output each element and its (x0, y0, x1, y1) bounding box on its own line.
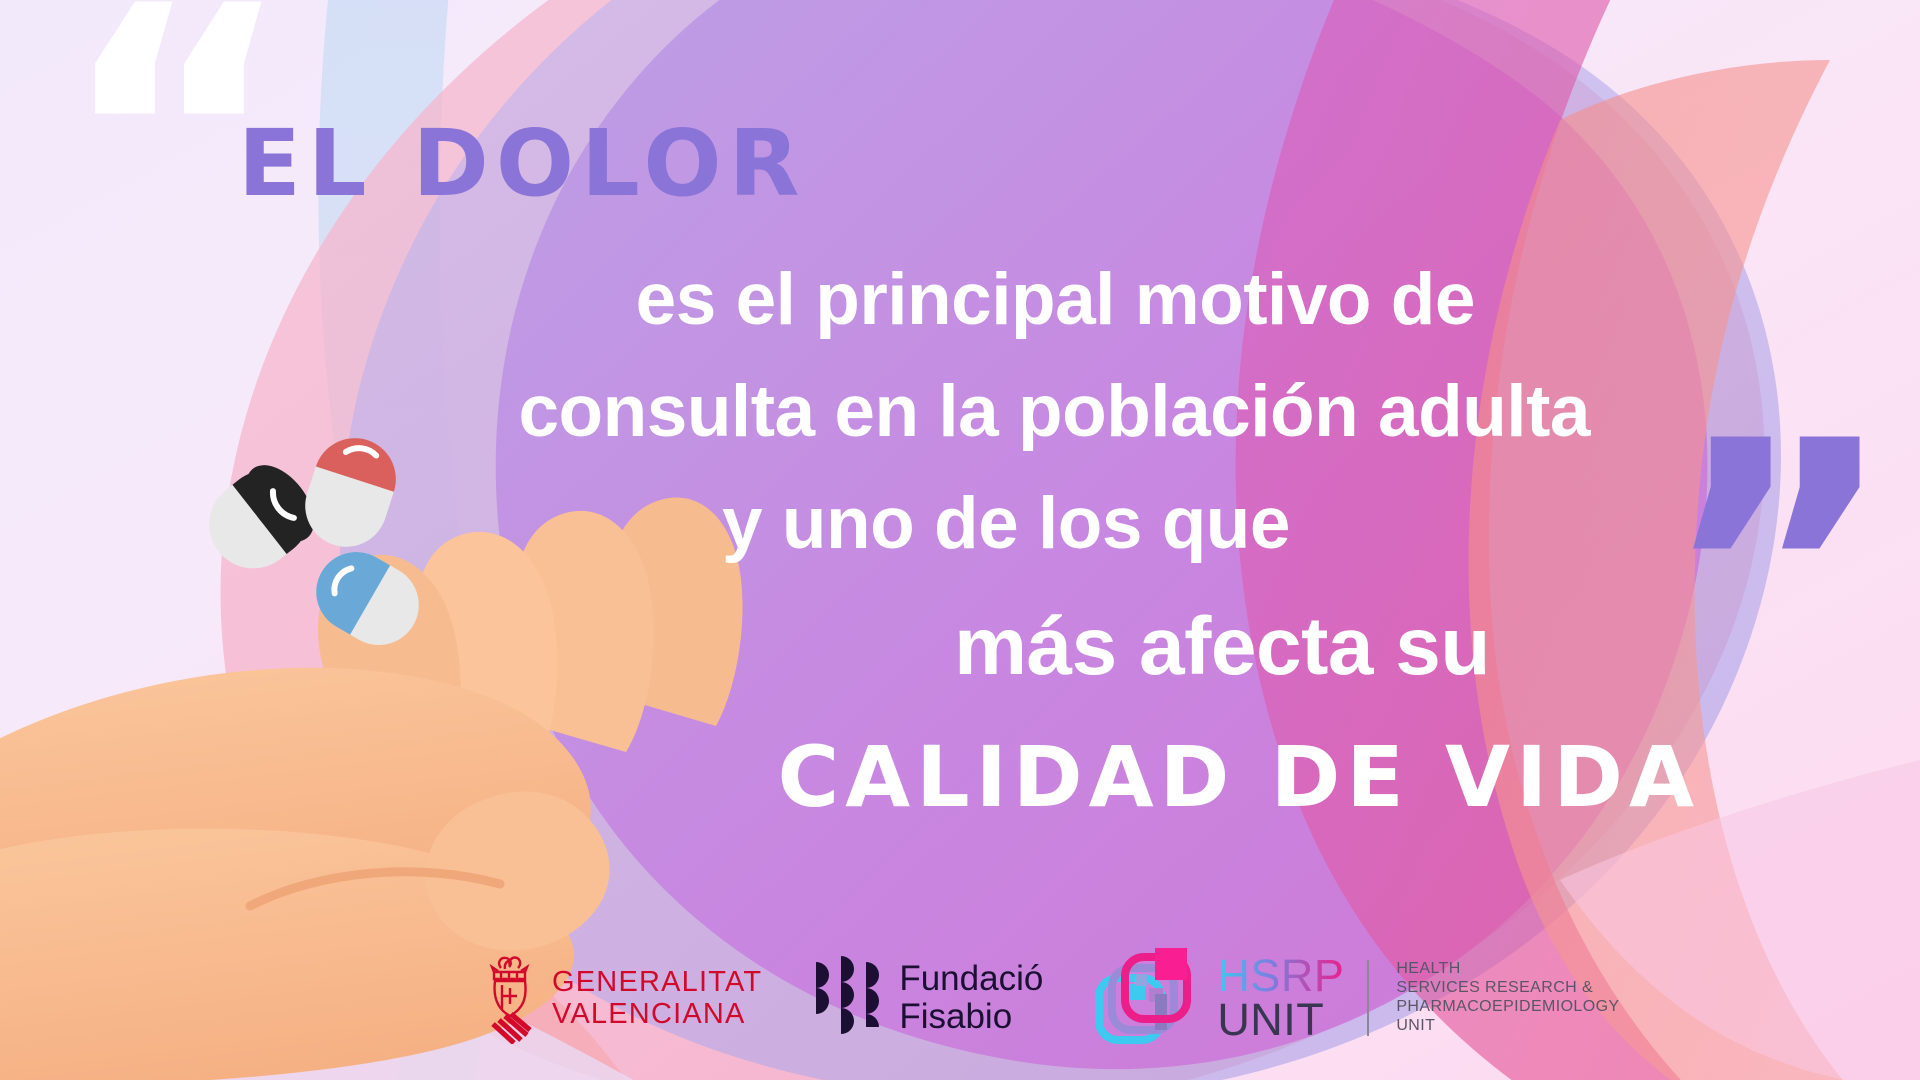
hsrp-acronym: HSRP (1217, 954, 1344, 998)
body-line-4: más afecta su (0, 600, 1490, 694)
logo-bar: GENERALITAT VALENCIANA (480, 938, 1620, 1058)
hsrp-tagline-line-1: HEALTH (1396, 960, 1619, 979)
hsrp-divider (1367, 960, 1369, 1036)
valencia-crest-icon (480, 952, 538, 1044)
hsrp-wordmark: HSRP UNIT (1217, 954, 1344, 1042)
tagline-calidad-de-vida: CALIDAD DE VIDA (0, 728, 1700, 826)
fisabio-wave-icon (814, 956, 886, 1040)
generalitat-wordmark: GENERALITAT VALENCIANA (552, 966, 762, 1031)
hsrp-tagline-line-3: PHARMACOEPIDEMIOLOGY (1396, 998, 1619, 1017)
hsrp-unit-label: UNIT (1217, 998, 1344, 1042)
generalitat-line-2: VALENCIANA (552, 998, 762, 1030)
logo-generalitat-valenciana: GENERALITAT VALENCIANA (480, 952, 762, 1044)
headline-el-dolor: EL DOLOR (238, 110, 806, 217)
hsrp-tagline-line-4: UNIT (1396, 1017, 1619, 1036)
hsrp-tagline: HEALTH SERVICES RESEARCH & PHARMACOEPIDE… (1396, 960, 1619, 1036)
generalitat-line-1: GENERALITAT (552, 966, 762, 998)
logo-hsrp-unit: HSRP UNIT HEALTH SERVICES RESEARCH & PHA… (1095, 944, 1619, 1052)
fisabio-line-1: Fundació (899, 960, 1043, 999)
fisabio-line-2: Fisabio (899, 998, 1043, 1037)
poster-canvas: “ ” EL DOLOR es el principal motivo de c… (0, 0, 1920, 1080)
fisabio-wordmark: Fundació Fisabio (899, 960, 1043, 1037)
logo-fundacio-fisabio: Fundació Fisabio (814, 956, 1043, 1040)
closing-quote-mark: ” (1660, 395, 1897, 755)
body-line-3: y uno de los que (0, 482, 1290, 565)
body-line-1: es el principal motivo de (0, 258, 1475, 341)
body-line-2: consulta en la población adulta (0, 370, 1590, 453)
hsrp-tagline-line-2: SERVICES RESEARCH & (1396, 979, 1619, 998)
hsrp-frames-icon (1095, 944, 1203, 1052)
